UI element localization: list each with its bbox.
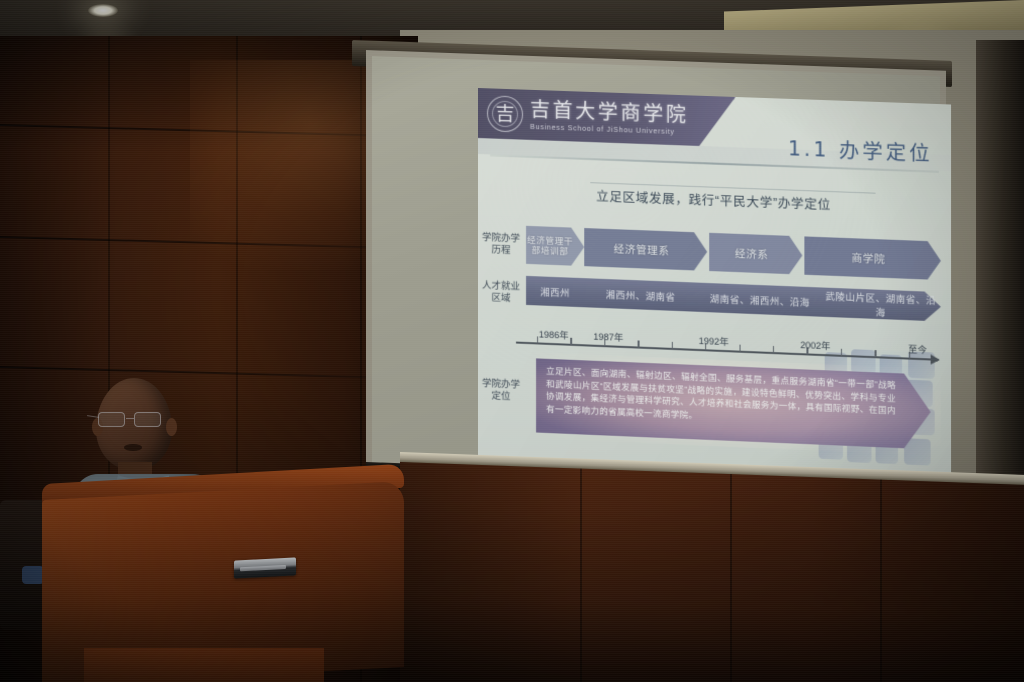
band-segment-3: 武陵山片区、湖南省、沿海 — [821, 287, 941, 321]
band-segment-0: 湘西州 — [526, 276, 584, 307]
band-segment-1: 湘西州、湖南省 — [584, 278, 697, 312]
podium-nameplate — [234, 557, 296, 578]
row-label-history: 学院办学历程 — [480, 232, 522, 257]
timeline-label-4: 至今 — [908, 341, 927, 356]
wainscot-panels — [400, 462, 1024, 682]
jishou-university-seal-icon: 吉 — [487, 95, 523, 132]
projected-slide: 吉 吉首大学商学院 Business School of JiShou Univ… — [478, 88, 951, 481]
seal-glyph: 吉 — [495, 104, 514, 124]
employment-band-row: 湘西州 湘西州、湖南省 湖南省、湘西州、沿海 武陵山片区、湖南省、沿海 — [526, 276, 941, 322]
chevron-item-0: 经济管理干部培训部 — [526, 226, 584, 266]
timeline-label-1: 1987年 — [593, 329, 623, 344]
presentation-photo-scene: 吉 吉首大学商学院 Business School of JiShou Univ… — [0, 0, 1024, 682]
chevron-item-1: 经济管理系 — [584, 228, 707, 271]
presenter-sleeve — [22, 566, 44, 584]
timeline-label-3: 2002年 — [800, 337, 830, 352]
presenter-mouth — [124, 444, 142, 451]
chevron-item-2: 经济系 — [709, 233, 802, 275]
history-chevron-row: 经济管理干部培训部 经济管理系 经济系 商学院 — [526, 226, 941, 280]
row-label-employment: 人才就业区域 — [480, 280, 522, 305]
podium-base — [84, 648, 324, 682]
glasses-icon — [98, 412, 172, 427]
institution-name-cn: 吉首大学商学院 — [530, 99, 688, 126]
wooden-podium — [42, 452, 404, 682]
band-segment-2: 湖南省、湘西州、沿海 — [697, 283, 823, 317]
slide-title: 1.1 办学定位 — [788, 132, 933, 166]
downlight-1 — [88, 4, 118, 17]
row-label-positioning: 学院办学定位 — [480, 378, 522, 403]
timeline-label-0: 1986年 — [539, 326, 569, 341]
chevron-item-3: 商学院 — [804, 236, 940, 280]
slide-logo-banner: 吉 吉首大学商学院 Business School of JiShou Univ… — [478, 88, 735, 147]
timeline-label-2: 1992年 — [699, 333, 729, 348]
